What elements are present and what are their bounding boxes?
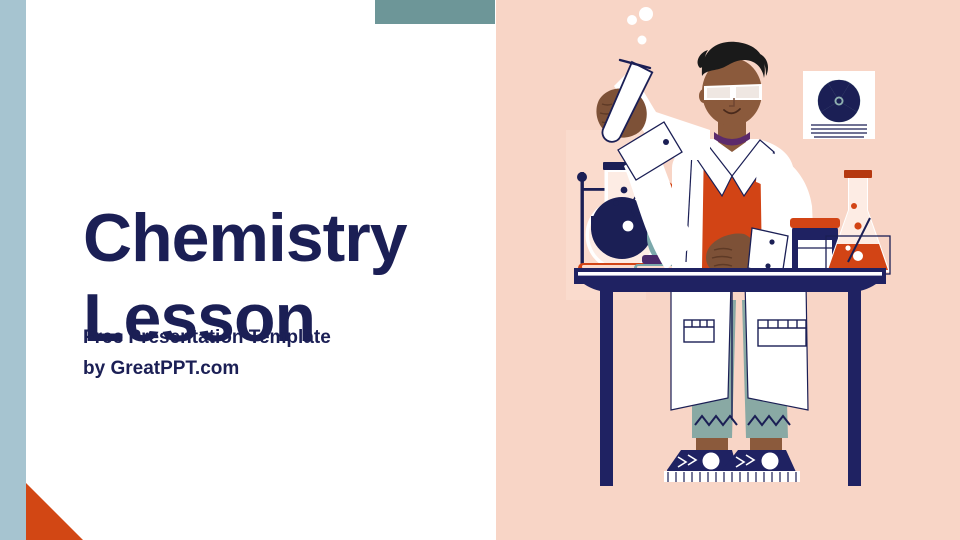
subtitle-line-1: Free Presentation Template <box>83 322 483 353</box>
presentation-slide: Chemistry Lesson Free Presentation Templ… <box>0 0 960 540</box>
radiation-poster <box>803 71 875 139</box>
chemistry-scientist-illustration: Scientist in white lab coat and safety g… <box>496 0 960 540</box>
corner-triangle-accent <box>26 483 83 540</box>
subtitle-line-2: by GreatPPT.com <box>83 353 483 384</box>
subtitle: Free Presentation Template by GreatPPT.c… <box>83 322 483 384</box>
top-accent-rectangle <box>375 0 495 24</box>
title-line-1: Chemistry <box>83 198 483 278</box>
left-accent-bar <box>0 0 26 540</box>
sneakers <box>664 450 800 482</box>
safety-goggles <box>704 84 762 100</box>
